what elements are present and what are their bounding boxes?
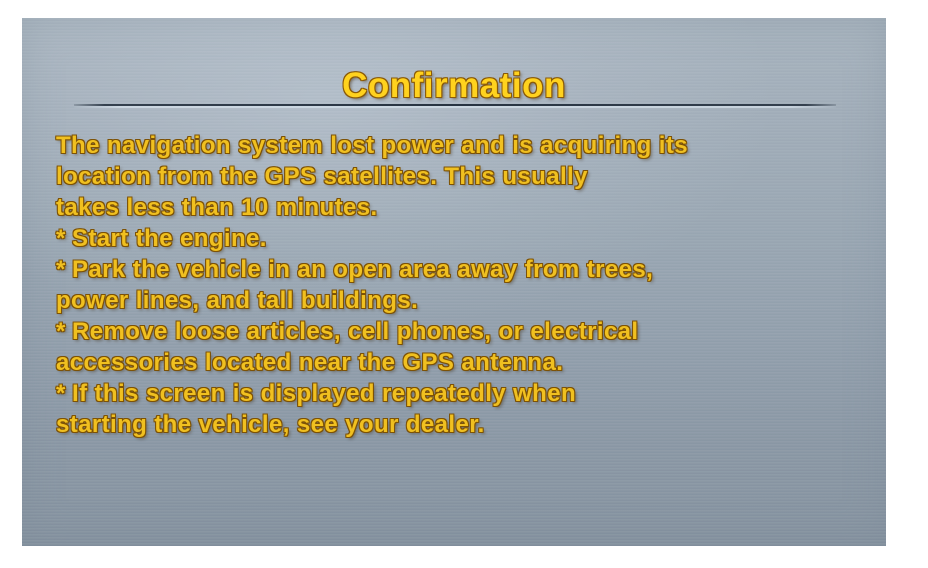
navigation-screen-panel: Confirmation The navigation system lost … bbox=[22, 18, 886, 546]
bullet-continuation-line: accessories located near the GPS antenna… bbox=[56, 347, 856, 378]
photo-frame: Confirmation The navigation system lost … bbox=[0, 0, 928, 568]
divider-light-line bbox=[74, 106, 836, 108]
bullet-item: *If this screen is displayed repeatedly … bbox=[56, 378, 856, 409]
bullet-marker-icon: * bbox=[56, 223, 72, 254]
message-paragraph-line: location from the GPS satellites. This u… bbox=[56, 161, 856, 192]
bullet-marker-icon: * bbox=[56, 254, 72, 285]
message-paragraph-line: The navigation system lost power and is … bbox=[56, 130, 856, 161]
bullet-continuation-line: power lines, and tall buildings. bbox=[56, 285, 856, 316]
title-divider bbox=[74, 104, 836, 109]
message-body: The navigation system lost power and is … bbox=[56, 130, 856, 440]
bullet-text: Start the engine. bbox=[72, 225, 267, 252]
bullet-continuation-line: starting the vehicle, see your dealer. bbox=[56, 409, 856, 440]
page-title: Confirmation bbox=[22, 66, 886, 106]
bullet-item: *Park the vehicle in an open area away f… bbox=[56, 254, 856, 285]
bullet-item: *Start the engine. bbox=[56, 223, 856, 254]
bullet-text: Remove loose articles, cell phones, or e… bbox=[72, 318, 639, 345]
bullet-marker-icon: * bbox=[56, 378, 72, 409]
message-paragraph-line: takes less than 10 minutes. bbox=[56, 192, 856, 223]
bullet-marker-icon: * bbox=[56, 316, 72, 347]
bullet-text: Park the vehicle in an open area away fr… bbox=[72, 256, 653, 283]
screen-content: Confirmation The navigation system lost … bbox=[22, 18, 886, 546]
bullet-text: If this screen is displayed repeatedly w… bbox=[72, 380, 576, 407]
bullet-item: *Remove loose articles, cell phones, or … bbox=[56, 316, 856, 347]
